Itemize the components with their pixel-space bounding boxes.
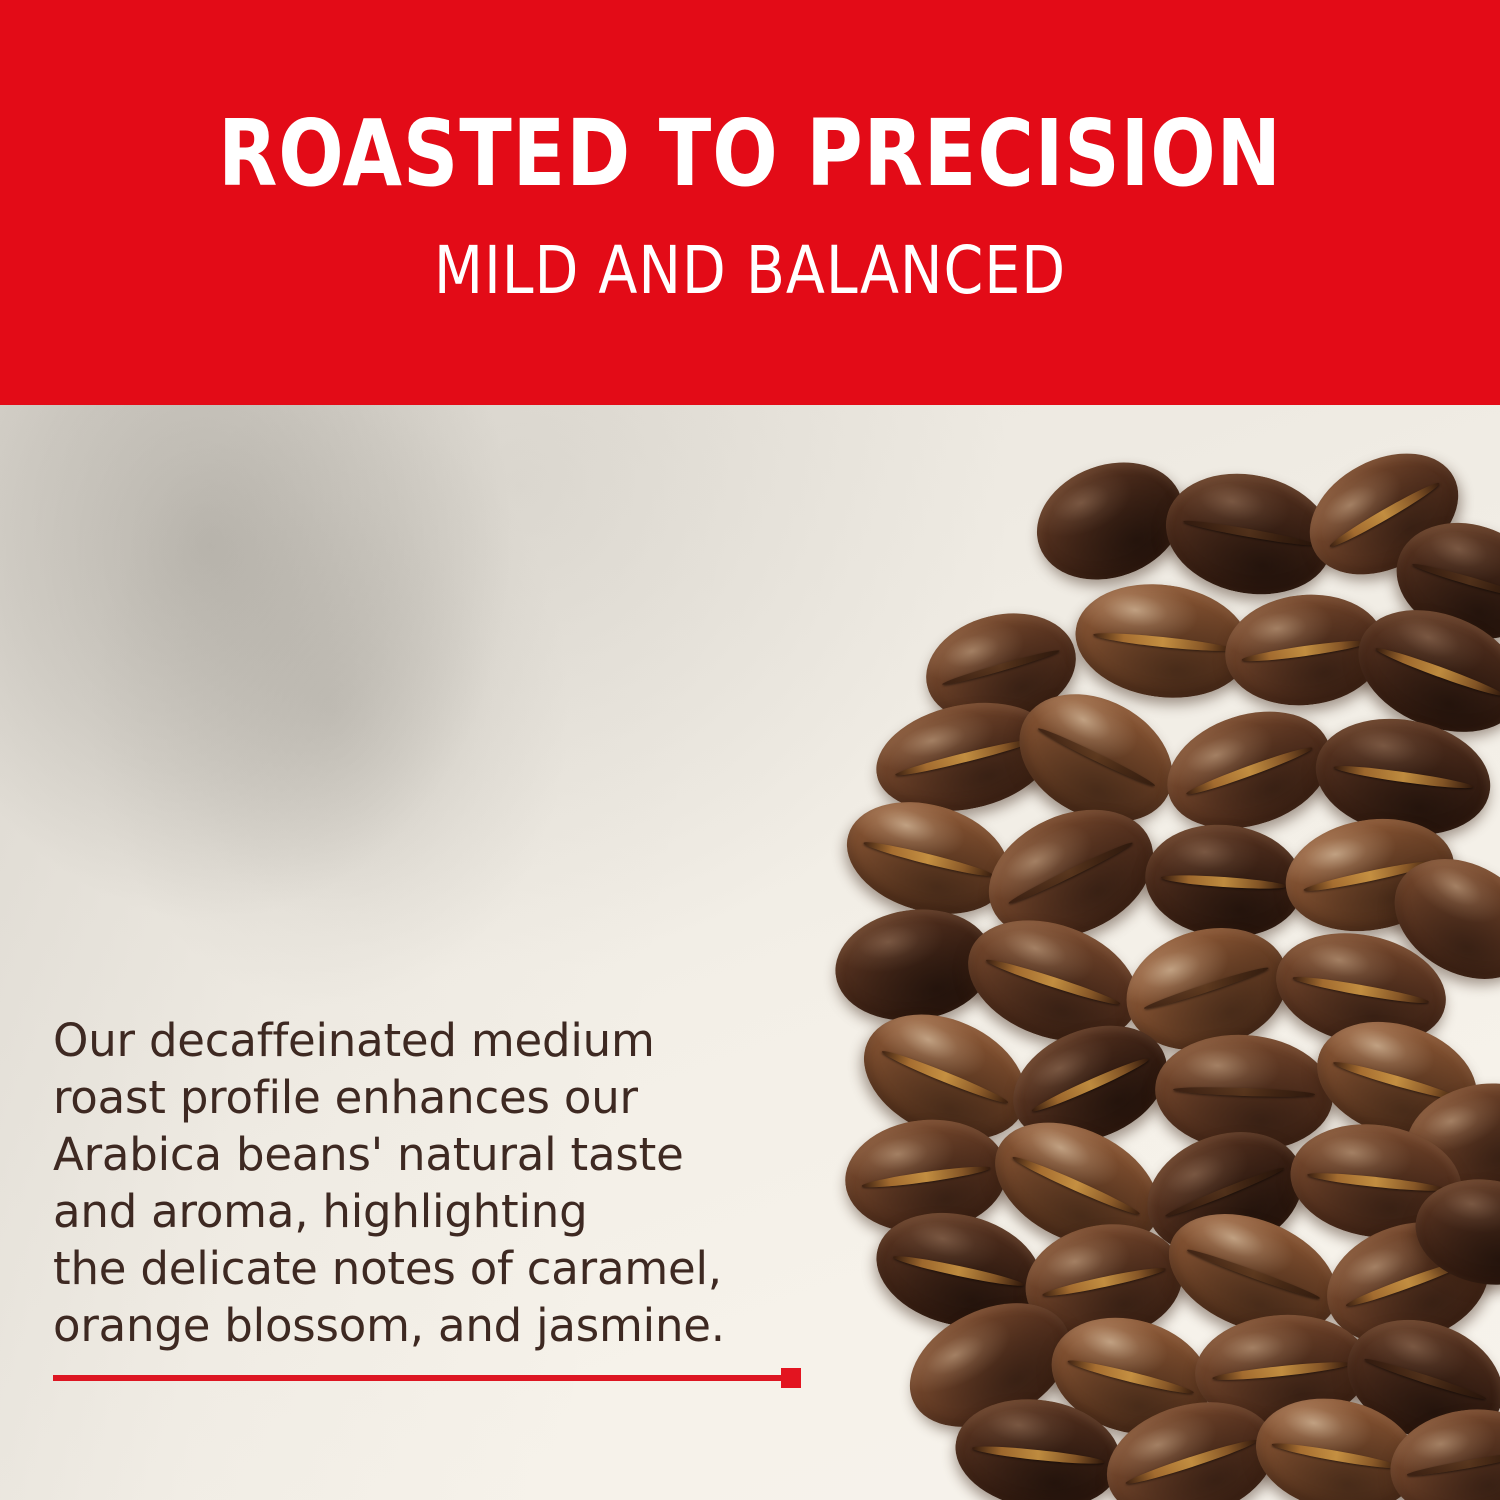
divider xyxy=(53,1368,801,1388)
coffee-bean-pile xyxy=(835,465,1500,1500)
coffee-bean xyxy=(1140,817,1309,945)
page-subtitle: MILD AND BALANCED xyxy=(30,238,1470,304)
header-band: ROASTED TO PRECISION MILD AND BALANCED xyxy=(0,0,1500,405)
divider-accent-square xyxy=(781,1368,801,1388)
page-title: ROASTED TO PRECISION xyxy=(53,108,1448,200)
description-text: Our decaffeinated medium roast profile e… xyxy=(53,1012,753,1354)
divider-line xyxy=(53,1375,788,1381)
poster-canvas: ROASTED TO PRECISION MILD AND BALANCED O… xyxy=(0,0,1500,1500)
